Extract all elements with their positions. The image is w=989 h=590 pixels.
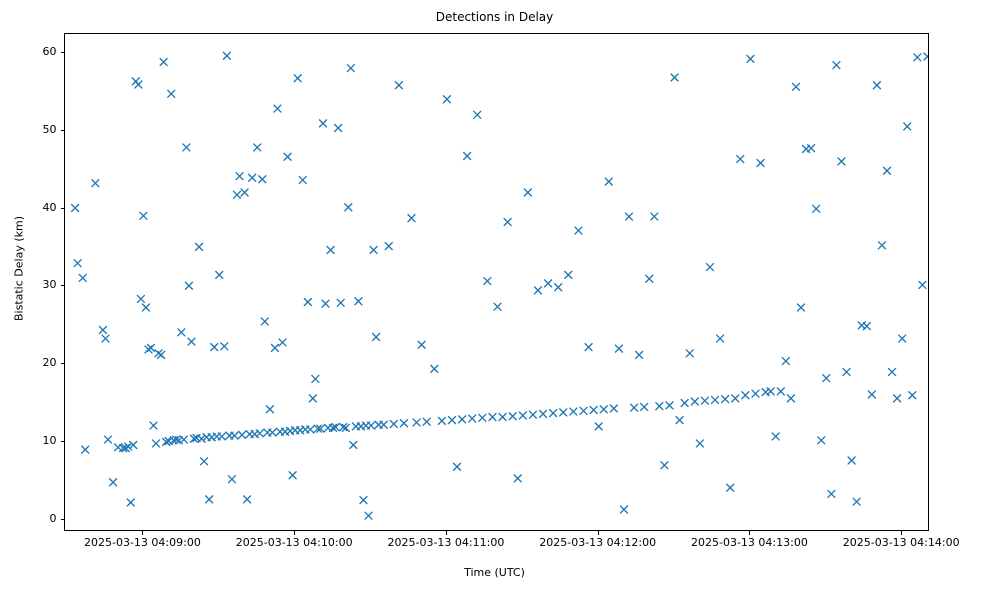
scatter-point xyxy=(878,242,885,249)
y-axis-label: Bistatic Delay (km) xyxy=(13,119,26,419)
x-tick-label: 2025-03-13 04:11:00 xyxy=(361,537,531,549)
scatter-point xyxy=(580,407,587,414)
scatter-point xyxy=(651,213,658,220)
scatter-point xyxy=(395,82,402,89)
scatter-point xyxy=(823,375,830,382)
scatter-point xyxy=(284,153,291,160)
scatter-point xyxy=(307,426,314,433)
scatter-point xyxy=(605,178,612,185)
y-tick-mark xyxy=(61,519,65,520)
scatter-point xyxy=(737,156,744,163)
scatter-point xyxy=(691,398,698,405)
scatter-point xyxy=(368,422,375,429)
scatter-point xyxy=(135,81,142,88)
scatter-point xyxy=(889,368,896,375)
scatter-point xyxy=(681,400,688,407)
scatter-point xyxy=(529,411,536,418)
scatter-point xyxy=(686,350,693,357)
scatter-point xyxy=(355,298,362,305)
x-tick-mark xyxy=(901,531,902,535)
scatter-point xyxy=(153,440,160,447)
x-tick-label: 2025-03-13 04:10:00 xyxy=(209,537,379,549)
scatter-point xyxy=(499,414,506,421)
scatter-point xyxy=(312,375,319,382)
scatter-point xyxy=(504,219,511,226)
scatter-point xyxy=(696,440,703,447)
x-tick-label: 2025-03-13 04:14:00 xyxy=(816,537,986,549)
scatter-point xyxy=(130,441,137,448)
scatter-point xyxy=(464,152,471,159)
chart-title: Detections in Delay xyxy=(0,10,989,24)
scatter-point xyxy=(853,498,860,505)
x-tick-mark xyxy=(294,531,295,535)
scatter-point xyxy=(196,243,203,250)
scatter-point xyxy=(884,167,891,174)
scatter-point xyxy=(459,416,466,423)
scatter-point xyxy=(127,499,134,506)
scatter-point xyxy=(722,396,729,403)
x-tick-label: 2025-03-13 04:09:00 xyxy=(57,537,227,549)
scatter-point xyxy=(489,414,496,421)
scatter-point xyxy=(585,344,592,351)
scatter-point xyxy=(390,421,397,428)
scatter-point xyxy=(147,344,154,351)
scatter-point xyxy=(438,417,445,424)
scatter-point xyxy=(570,408,577,415)
scatter-point xyxy=(150,422,157,429)
scatter-point xyxy=(534,287,541,294)
scatter-point xyxy=(400,420,407,427)
scatter-point xyxy=(183,144,190,151)
scatter-point xyxy=(454,463,461,470)
scatter-point xyxy=(274,105,281,112)
scatter-point xyxy=(540,410,547,417)
scatter-points-layer xyxy=(65,34,928,530)
y-tick-mark xyxy=(61,363,65,364)
scatter-point xyxy=(787,395,794,402)
scatter-point xyxy=(74,260,81,267)
scatter-point xyxy=(249,174,256,181)
scatter-point xyxy=(279,339,286,346)
scatter-point xyxy=(347,65,354,72)
scatter-point xyxy=(494,303,501,310)
scatter-point xyxy=(626,213,633,220)
scatter-point xyxy=(188,338,195,345)
scatter-point xyxy=(254,144,261,151)
scatter-point xyxy=(327,246,334,253)
scatter-point xyxy=(335,125,342,132)
scatter-point xyxy=(909,392,916,399)
scatter-point xyxy=(140,212,147,219)
x-tick-label: 2025-03-13 04:12:00 xyxy=(513,537,683,549)
scatter-point xyxy=(72,205,79,212)
scatter-point xyxy=(848,457,855,464)
scatter-point xyxy=(565,271,572,278)
scatter-point xyxy=(843,368,850,375)
scatter-point xyxy=(211,344,218,351)
scatter-point xyxy=(102,335,109,342)
scatter-point xyxy=(706,264,713,271)
scatter-point xyxy=(620,506,627,513)
scatter-point xyxy=(216,271,223,278)
scatter-point xyxy=(256,430,263,437)
scatter-point xyxy=(269,429,276,436)
scatter-point xyxy=(798,304,805,311)
scatter-point xyxy=(236,173,243,180)
scatter-point xyxy=(413,419,420,426)
scatter-point xyxy=(125,443,132,450)
scatter-point xyxy=(615,345,622,352)
scatter-point xyxy=(142,304,149,311)
scatter-point xyxy=(299,177,306,184)
scatter-point xyxy=(180,436,187,443)
scatter-point xyxy=(727,484,734,491)
scatter-point xyxy=(752,390,759,397)
scatter-point xyxy=(79,274,86,281)
scatter-point xyxy=(218,433,225,440)
scatter-point xyxy=(519,412,526,419)
scatter-point xyxy=(271,344,278,351)
scatter-point xyxy=(777,388,784,395)
scatter-point xyxy=(373,333,380,340)
scatter-point xyxy=(904,123,911,130)
scatter-point xyxy=(178,329,185,336)
scatter-point xyxy=(261,318,268,325)
scatter-point xyxy=(474,111,481,118)
scatter-point xyxy=(304,299,311,306)
x-tick-label: 2025-03-13 04:13:00 xyxy=(664,537,834,549)
scatter-point xyxy=(641,403,648,410)
scatter-point xyxy=(732,395,739,402)
scatter-point xyxy=(914,54,921,61)
scatter-point xyxy=(158,351,165,358)
scatter-point xyxy=(228,476,235,483)
scatter-point xyxy=(479,414,486,421)
scatter-point xyxy=(757,159,764,166)
scatter-point xyxy=(555,284,562,291)
scatter-point xyxy=(792,83,799,90)
scatter-point xyxy=(595,423,602,430)
scatter-point xyxy=(206,496,213,503)
scatter-point xyxy=(137,295,144,302)
scatter-point xyxy=(772,433,779,440)
y-tick-mark xyxy=(61,441,65,442)
scatter-point xyxy=(747,55,754,62)
y-tick-mark xyxy=(61,208,65,209)
scatter-point xyxy=(712,396,719,403)
scatter-point xyxy=(198,435,205,442)
x-tick-mark xyxy=(446,531,447,535)
scatter-point xyxy=(431,365,438,372)
scatter-point xyxy=(221,343,228,350)
scatter-point xyxy=(241,189,248,196)
scatter-point xyxy=(350,441,357,448)
scatter-point xyxy=(360,497,367,504)
scatter-point xyxy=(610,405,617,412)
scatter-point xyxy=(104,436,111,443)
scatter-point xyxy=(423,418,430,425)
y-tick-label: 0 xyxy=(11,513,57,524)
scatter-point xyxy=(833,62,840,69)
scatter-point xyxy=(289,472,296,479)
plot-axes-frame xyxy=(64,33,929,531)
scatter-point xyxy=(99,327,106,334)
scatter-point xyxy=(742,392,749,399)
scatter-point xyxy=(666,402,673,409)
scatter-point xyxy=(782,358,789,365)
scatter-point xyxy=(701,397,708,404)
scatter-point xyxy=(767,388,774,395)
scatter-point xyxy=(418,341,425,348)
scatter-point xyxy=(337,299,344,306)
scatter-point xyxy=(560,409,567,416)
scatter-point xyxy=(223,52,230,59)
scatter-point xyxy=(813,205,820,212)
scatter-point xyxy=(717,335,724,342)
scatter-point xyxy=(545,280,552,287)
scatter-point xyxy=(244,496,251,503)
scatter-point xyxy=(656,403,663,410)
scatter-point xyxy=(259,176,266,183)
scatter-point xyxy=(590,407,597,414)
matplotlib-figure: Detections in Delay 0102030405060 2025-0… xyxy=(0,0,989,590)
scatter-point xyxy=(319,120,326,127)
scatter-point xyxy=(110,479,117,486)
scatter-point xyxy=(676,417,683,424)
scatter-point xyxy=(92,180,99,187)
scatter-point xyxy=(524,189,531,196)
scatter-point xyxy=(385,243,392,250)
scatter-point xyxy=(838,158,845,165)
scatter-point xyxy=(365,512,372,519)
y-tick-mark xyxy=(61,52,65,53)
scatter-point xyxy=(514,475,521,482)
scatter-point xyxy=(294,75,301,82)
scatter-point xyxy=(266,406,273,413)
x-tick-mark xyxy=(598,531,599,535)
scatter-point xyxy=(160,58,167,65)
scatter-point xyxy=(868,391,875,398)
scatter-point xyxy=(448,417,455,424)
scatter-point xyxy=(370,246,377,253)
scatter-point xyxy=(185,282,192,289)
y-tick-label: 10 xyxy=(11,435,57,446)
scatter-point xyxy=(201,458,208,465)
x-tick-mark xyxy=(749,531,750,535)
scatter-point xyxy=(894,395,901,402)
scatter-point xyxy=(239,431,246,438)
scatter-point xyxy=(575,227,582,234)
scatter-point xyxy=(82,446,89,453)
scatter-point xyxy=(636,351,643,358)
scatter-point xyxy=(828,490,835,497)
scatter-point xyxy=(233,191,240,198)
scatter-point xyxy=(443,96,450,103)
scatter-point xyxy=(550,410,557,417)
scatter-point xyxy=(818,437,825,444)
scatter-point xyxy=(309,395,316,402)
scatter-point xyxy=(661,462,668,469)
scatter-point xyxy=(231,432,238,439)
scatter-point xyxy=(380,421,387,428)
scatter-point xyxy=(863,323,870,330)
scatter-plot-area xyxy=(65,34,928,530)
scatter-point xyxy=(484,278,491,285)
scatter-point xyxy=(408,215,415,222)
y-tick-mark xyxy=(61,285,65,286)
scatter-point xyxy=(509,413,516,420)
scatter-point xyxy=(600,406,607,413)
scatter-point xyxy=(919,281,926,288)
scatter-point xyxy=(671,74,678,81)
x-tick-mark xyxy=(142,531,143,535)
scatter-point xyxy=(899,335,906,342)
scatter-point xyxy=(631,404,638,411)
scatter-point xyxy=(469,415,476,422)
y-tick-label: 60 xyxy=(11,46,57,57)
scatter-point xyxy=(808,145,815,152)
scatter-point xyxy=(322,300,329,307)
scatter-point xyxy=(345,204,352,211)
scatter-point xyxy=(873,82,880,89)
scatter-point xyxy=(168,90,175,97)
scatter-point xyxy=(646,275,653,282)
x-axis-label: Time (UTC) xyxy=(0,566,989,579)
y-tick-mark xyxy=(61,130,65,131)
scatter-point xyxy=(924,53,928,60)
